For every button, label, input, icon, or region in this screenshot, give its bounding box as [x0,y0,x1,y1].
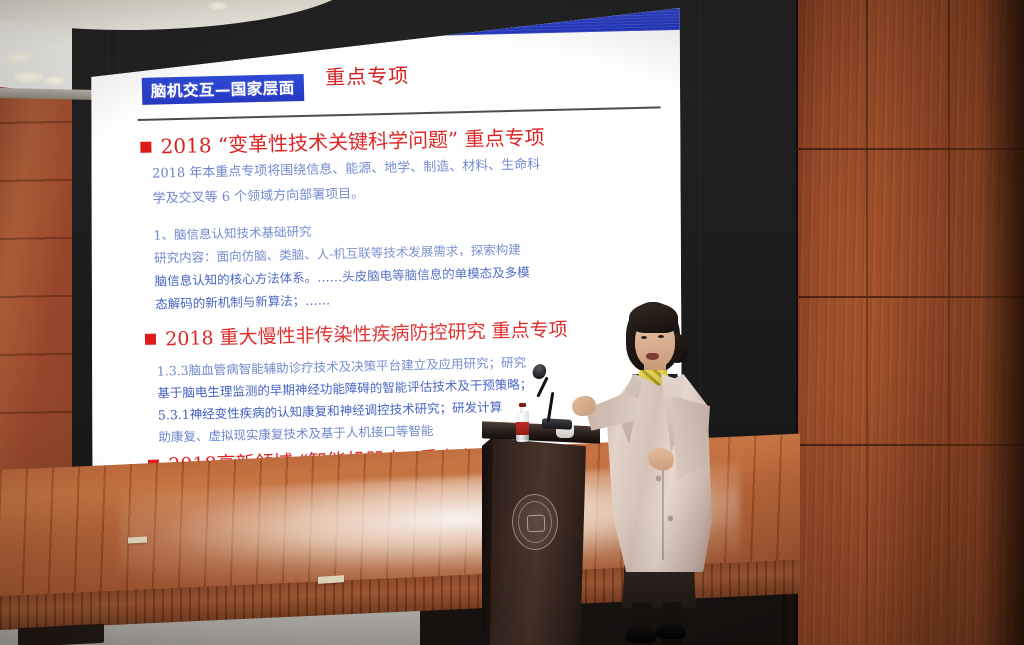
slide-body-line: 5.3.1神经变性疾病的认知康复和神经调控技术研究；研发计算 [158,396,503,423]
ceiling-light [6,52,32,63]
slide-title-tag: 脑机交互—国家层面 [142,74,305,105]
podium-front-panel [490,438,586,645]
eye [658,335,664,338]
slide-bullet-text: 2018 重大慢性非传染性疾病防控研究 重点专项 [165,319,568,351]
slide-body-line: 助康复、虚拟现实康复技术及基于人机接口等智能 [158,420,433,446]
slide-body-line: 学及交叉等 6 个领域方向部署项目。 [153,183,365,207]
bullet-square-icon [141,142,152,153]
slide-body-line: 态解码的新机制与新算法；…… [155,289,330,312]
right-wall-shadow [980,0,1024,645]
water-bottle [516,403,529,442]
bottle-label [516,422,529,435]
slide-title-rest: 重点专项 [325,60,410,91]
bullet-square-icon [145,334,156,345]
podium-seal-mark [527,515,546,533]
bottle-cap [519,403,526,407]
slide-header-bar [86,6,682,45]
slide-body-line: 脑信息认知的核心方法体系。……头皮脑电等脑信息的单模态及多模 [155,262,530,290]
slide-body-line: 1、脑信息认知技术基础研究 [153,221,311,244]
eye [641,336,647,339]
podium-seal-icon [511,493,559,551]
shoe-right [656,624,686,639]
shoe-left [626,628,656,643]
mouth [646,353,659,360]
wood-panel-seam [948,0,950,645]
coat-button [668,516,673,521]
slide-title-rule [138,107,661,122]
coat-button [656,476,661,481]
ceiling-light [44,76,66,85]
lecture-hall-scene: 脑机交互—国家层面 重点专项 2018 “变革性技术关键科学问题” 重点专项 2… [0,0,1024,645]
podium [482,424,600,645]
floor-object [18,624,104,645]
presenter [594,298,722,645]
ceiling-light [14,71,44,83]
hair-front [629,303,678,333]
slide-bullet: 2018 重大慢性非传染性疾病防控研究 重点专项 [145,315,568,352]
floor-paper-scrap [128,537,147,544]
wood-panel-seam [866,0,868,645]
